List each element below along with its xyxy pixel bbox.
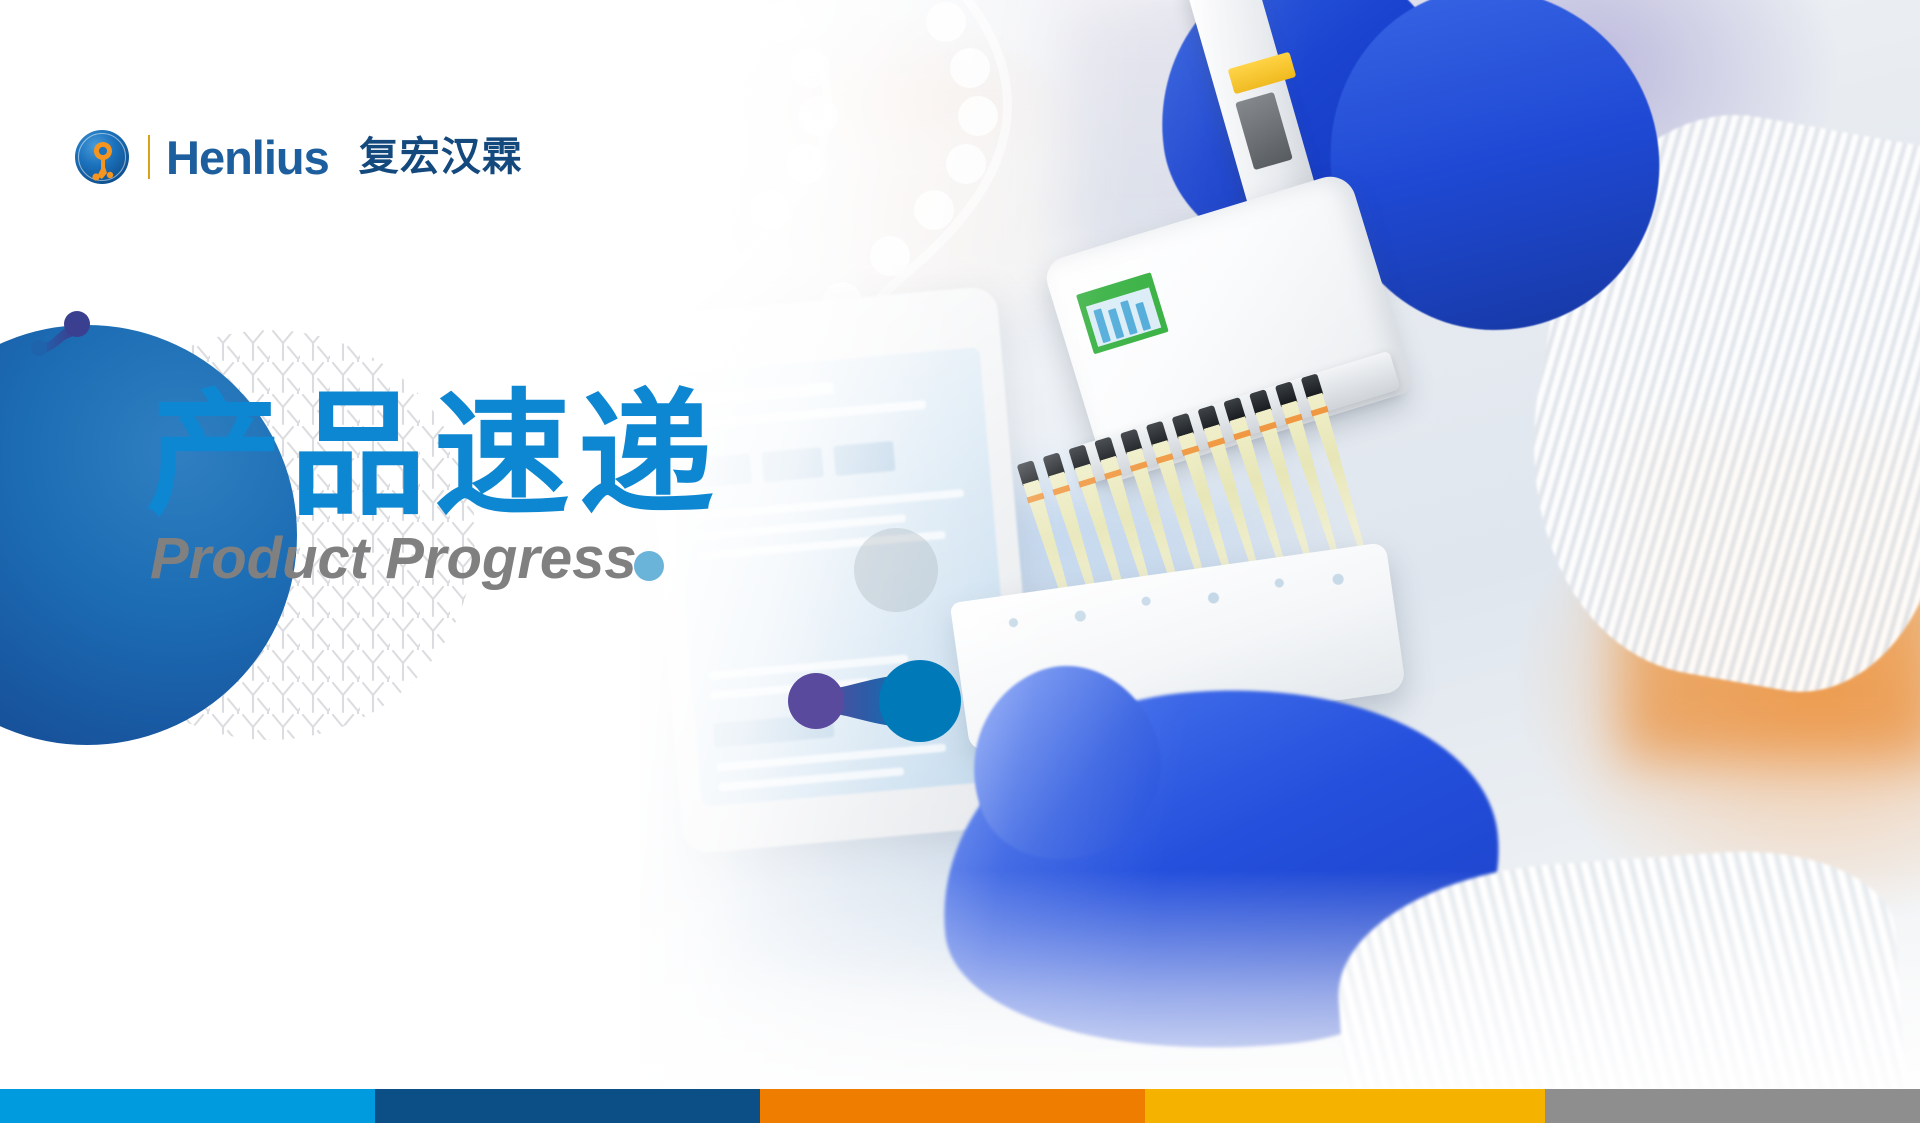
pipette-green-label (1076, 272, 1169, 354)
page-title-english: Product Progress (150, 530, 637, 588)
bar-segment-orange (760, 1089, 1145, 1123)
bottom-color-bar (0, 1089, 1920, 1123)
bar-segment-gold (1145, 1089, 1545, 1123)
bar-segment-light-blue (0, 1089, 375, 1123)
page-title-chinese: 产品速递 (146, 388, 722, 524)
logo-chinese-name: 复宏汉霖 (359, 137, 523, 177)
decor-dot-gray (854, 528, 938, 612)
logo-english-name: Henlius (166, 134, 329, 181)
bar-segment-navy (375, 1089, 760, 1123)
lab-photo (640, 0, 1920, 1100)
henlius-logo[interactable]: Henlius 复宏汉霖 (74, 127, 523, 187)
slide-canvas: Henlius 复宏汉霖 产品速递 Product Progress (0, 0, 1920, 1123)
molecule-decor-mid (780, 660, 1010, 746)
logo-divider (148, 135, 150, 179)
henlius-circle-mark-icon (74, 129, 130, 185)
molecule-decor-small (28, 310, 108, 364)
bar-segment-gray (1545, 1089, 1920, 1123)
decor-dot-light-blue (634, 551, 664, 581)
